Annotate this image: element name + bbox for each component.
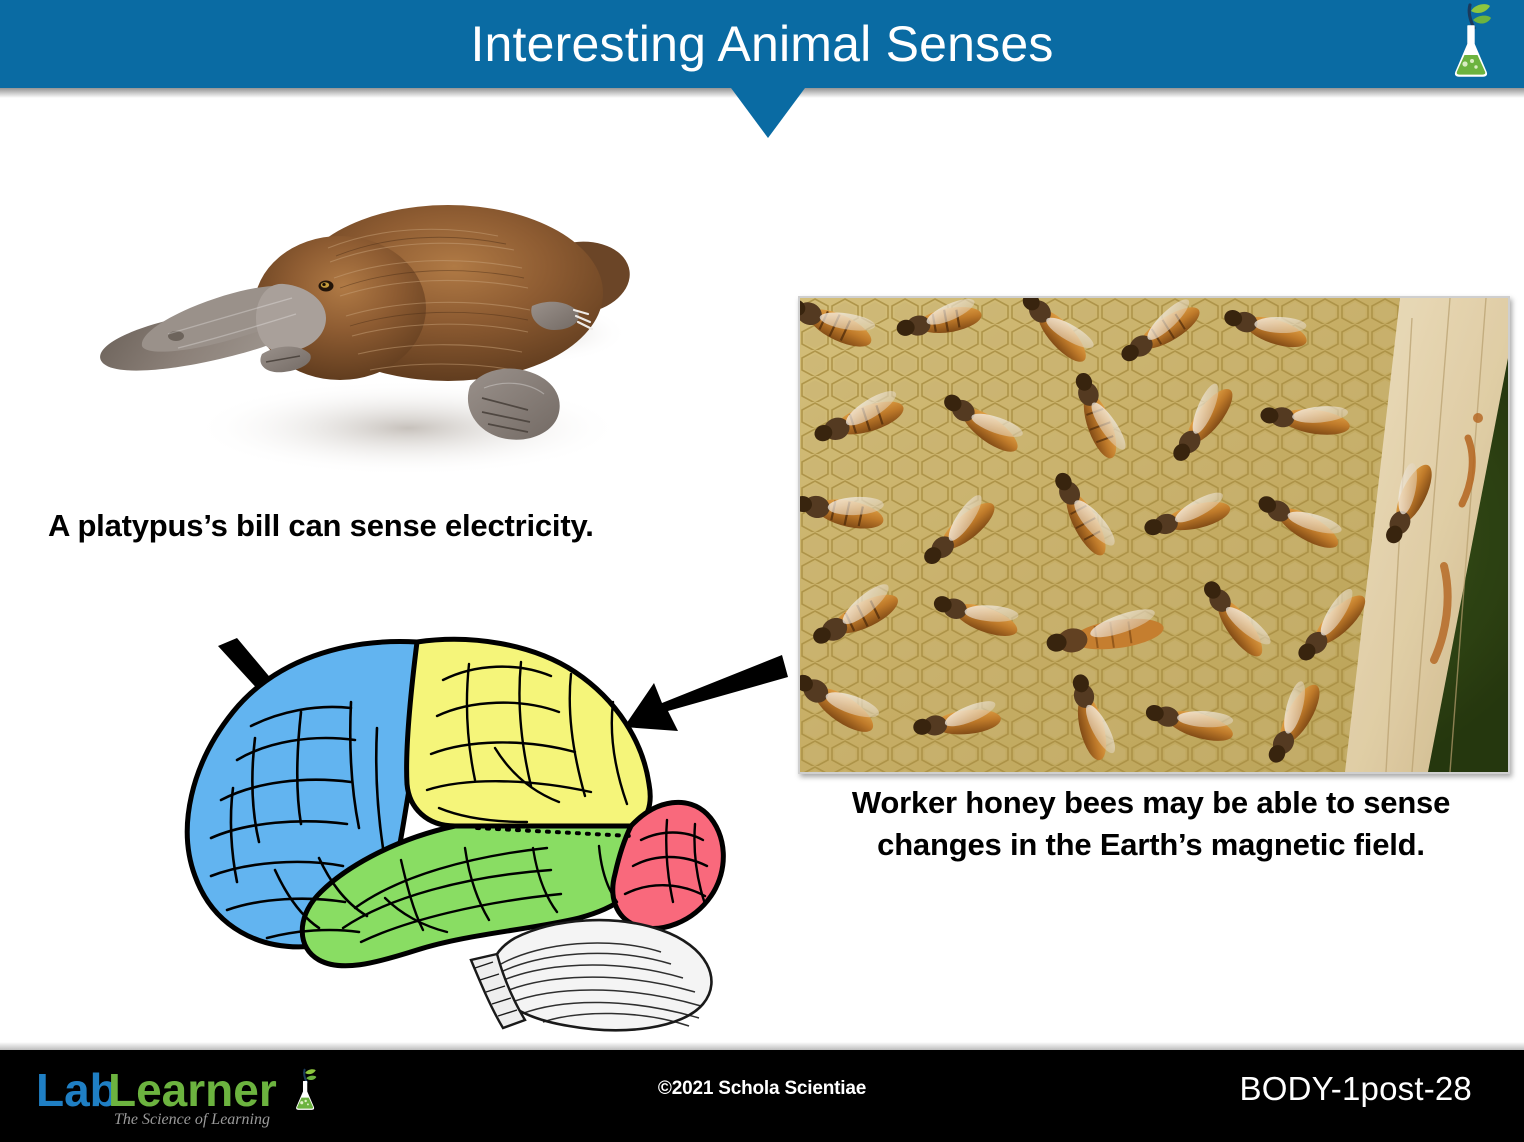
platypus-caption: A platypus’s bill can sense electricity. <box>48 506 728 546</box>
document-code: BODY-1post-28 <box>1239 1070 1472 1108</box>
brain-lateral-diagram <box>155 608 745 1038</box>
platypus-photo <box>78 158 678 488</box>
bees-caption-line-1: Worker honey bees may be able to sense <box>790 782 1512 824</box>
footer-bar: Lab Learner The Science of Learning ©202… <box>0 1050 1524 1142</box>
bees-caption: Worker honey bees may be able to sense c… <box>790 782 1512 866</box>
bees-caption-line-2: changes in the Earth’s magnetic field. <box>790 824 1512 866</box>
honeybees-on-honeycomb-photo <box>798 296 1510 774</box>
flask-sprout-icon <box>1444 2 1498 80</box>
logo-tagline-text: The Science of Learning <box>114 1111 270 1128</box>
slide-content-area: A platypus’s bill can sense electricity. <box>0 98 1524 1042</box>
header-pointer-triangle <box>731 88 805 138</box>
page-title: Interesting Animal Senses <box>0 4 1524 84</box>
footer-divider <box>0 1042 1524 1050</box>
